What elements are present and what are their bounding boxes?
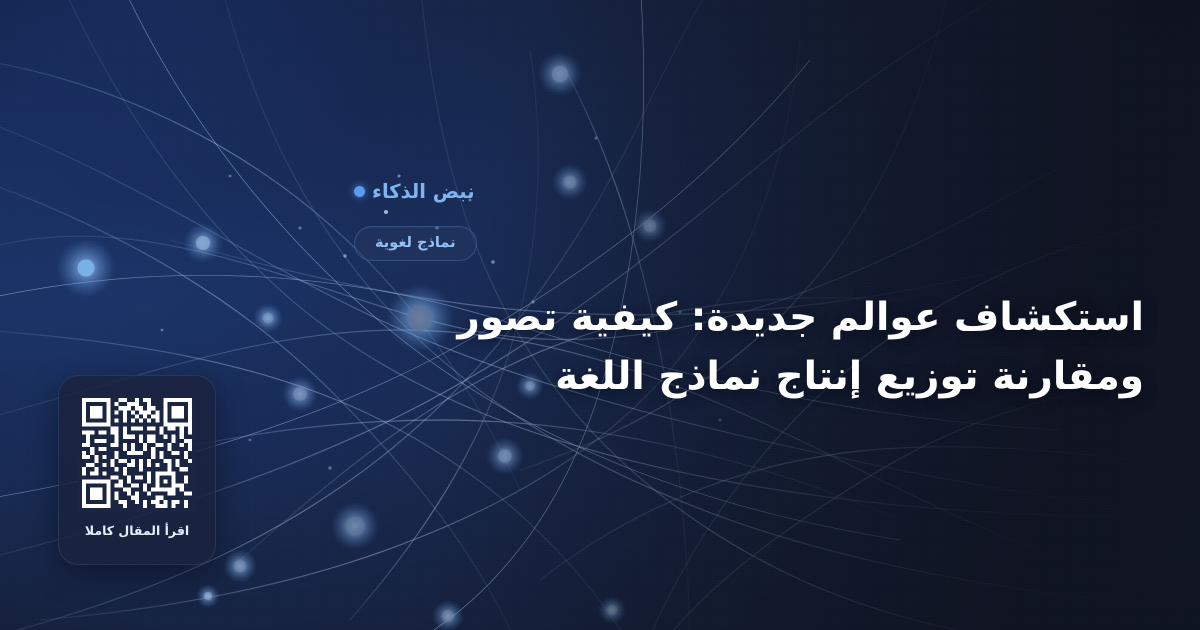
brand: نبض الذكاء bbox=[354, 182, 1144, 202]
badge-row: نماذج لغوية bbox=[354, 226, 1144, 262]
brand-name: نبض الذكاء bbox=[372, 182, 475, 202]
qr-code-icon bbox=[78, 394, 196, 512]
content-column: نبض الذكاء نماذج لغوية استكشاف عوالم جدي… bbox=[354, 182, 1144, 407]
headline-line-2: توزيع إنتاج نماذج اللغة bbox=[555, 354, 978, 399]
qr-card-caption: اقرأ المقال كاملا bbox=[85, 525, 189, 538]
social-card: نبض الذكاء نماذج لغوية استكشاف عوالم جدي… bbox=[0, 0, 1200, 630]
category-badge[interactable]: نماذج لغوية bbox=[354, 226, 477, 262]
page-title: استكشاف عوالم جديدة: كيفية تصور ومقارنة … bbox=[354, 288, 1144, 407]
qr-card[interactable]: اقرأ المقال كاملا bbox=[58, 375, 216, 565]
brand-dot-icon bbox=[354, 186, 365, 197]
